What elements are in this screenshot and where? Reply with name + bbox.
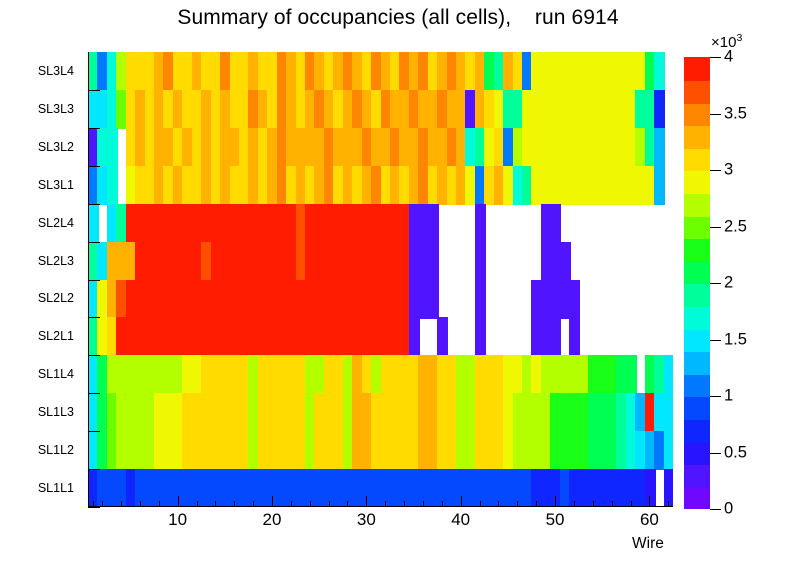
y-axis-label-sl2l3: SL2L3 <box>16 254 74 268</box>
color-scale-tick <box>710 453 721 454</box>
x-axis-tick <box>574 501 575 507</box>
page-title: Summary of occupancies (all cells), run … <box>0 6 796 30</box>
color-scale-tick <box>710 170 721 171</box>
color-scale-label-1500: 1.5 <box>724 330 747 349</box>
x-axis-tick <box>555 496 556 507</box>
x-axis-tick <box>612 501 613 507</box>
x-axis-title: Wire <box>632 535 664 553</box>
y-axis-label-sl3l4: SL3L4 <box>16 64 74 78</box>
x-axis-tick <box>498 501 499 507</box>
color-scale-label-2000: 2 <box>724 274 733 293</box>
x-axis-tick <box>593 501 594 507</box>
x-axis-tick <box>347 501 348 507</box>
color-scale-label-0: 0 <box>724 500 733 519</box>
y-axis-label-sl3l2: SL3L2 <box>16 140 74 154</box>
x-axis-label-60: 60 <box>640 510 659 530</box>
color-scale-label-500: 0.5 <box>724 443 747 462</box>
x-axis-tick <box>234 501 235 507</box>
x-axis-tick <box>385 501 386 507</box>
color-scale-tick <box>710 57 721 58</box>
color-scale-label-4000: 4 <box>724 48 733 67</box>
x-axis-tick <box>442 501 443 507</box>
x-axis-tick <box>121 501 122 507</box>
x-axis-ticks <box>88 52 673 507</box>
x-axis-tick <box>291 501 292 507</box>
x-axis-tick <box>272 496 273 507</box>
y-axis-label-sl2l4: SL2L4 <box>16 216 74 230</box>
x-axis-tick <box>668 501 669 507</box>
color-scale-tick <box>710 283 721 284</box>
x-axis-label-40: 40 <box>451 510 470 530</box>
x-axis-tick <box>329 501 330 507</box>
x-axis-tick <box>140 501 141 507</box>
x-axis-tick <box>404 501 405 507</box>
y-axis-label-sl1l1: SL1L1 <box>16 481 74 495</box>
x-axis-tick <box>178 496 179 507</box>
color-scale-tick <box>710 114 721 115</box>
color-scale-label-3500: 3.5 <box>724 104 747 123</box>
color-scale-tick <box>710 227 721 228</box>
y-axis-label-sl1l3: SL1L3 <box>16 405 74 419</box>
x-axis-tick <box>649 496 650 507</box>
x-axis-tick <box>93 501 94 507</box>
x-axis-tick <box>480 501 481 507</box>
x-axis-tick <box>310 501 311 507</box>
color-scale-tick <box>710 340 721 341</box>
x-axis-tick <box>631 501 632 507</box>
root-canvas: Summary of occupancies (all cells), run … <box>0 0 796 572</box>
x-axis-tick <box>253 501 254 507</box>
color-scale-label-2500: 2.5 <box>724 217 747 236</box>
x-axis-tick <box>517 501 518 507</box>
x-axis-tick <box>197 501 198 507</box>
color-scale-label-3000: 3 <box>724 161 733 180</box>
x-axis-tick <box>366 496 367 507</box>
x-axis-tick <box>159 501 160 507</box>
y-axis-label-sl2l2: SL2L2 <box>16 291 74 305</box>
x-axis-label-30: 30 <box>357 510 376 530</box>
x-axis-tick <box>536 501 537 507</box>
color-scale-label-1000: 1 <box>724 387 733 406</box>
x-axis-tick <box>461 496 462 507</box>
x-axis-label-50: 50 <box>546 510 565 530</box>
color-scale-canvas <box>684 57 710 509</box>
y-axis-label-sl3l1: SL3L1 <box>16 178 74 192</box>
color-scale-bar <box>684 57 710 509</box>
x-axis-label-10: 10 <box>168 510 187 530</box>
x-axis-tick <box>215 501 216 507</box>
y-axis-tick <box>88 507 100 508</box>
y-axis-label-sl3l3: SL3L3 <box>16 102 74 116</box>
color-scale-tick <box>710 509 721 510</box>
x-axis-tick <box>423 501 424 507</box>
x-axis-label-20: 20 <box>263 510 282 530</box>
y-axis-label-sl1l2: SL1L2 <box>16 443 74 457</box>
x-axis-tick <box>102 501 103 507</box>
y-axis-label-sl1l4: SL1L4 <box>16 367 74 381</box>
y-axis-labels: SL3L4SL3L3SL3L2SL3L1SL2L4SL2L3SL2L2SL2L1… <box>14 0 74 572</box>
color-scale-tick <box>710 396 721 397</box>
color-scale-exponent-power: 3 <box>736 32 742 44</box>
y-axis-label-sl2l1: SL2L1 <box>16 329 74 343</box>
